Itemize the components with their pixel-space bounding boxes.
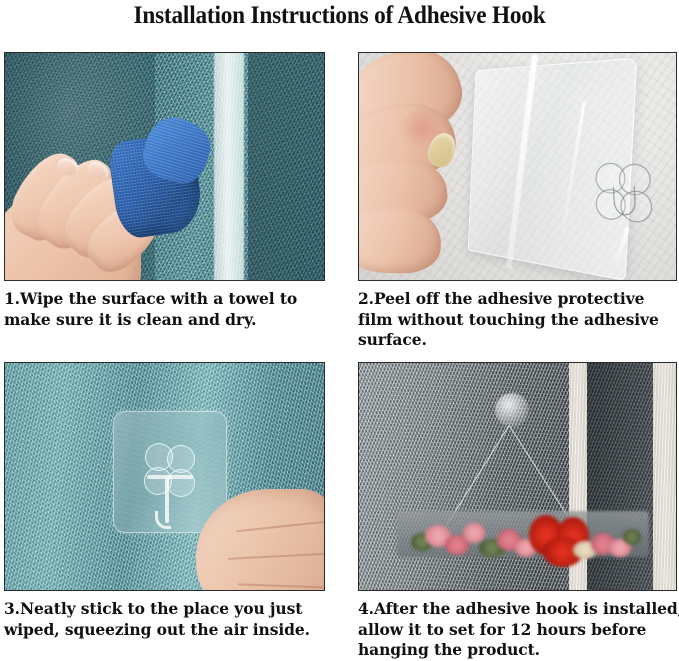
peel-film-photo xyxy=(358,52,677,281)
hand-holding-hook xyxy=(358,52,493,281)
stick-hook-photo xyxy=(4,362,325,591)
glass-light-band-right xyxy=(653,362,677,591)
garland-bloom xyxy=(463,523,485,543)
step-caption-3: 3.Neatly stick to the place you just wip… xyxy=(4,599,334,640)
glass-dark-strip-right xyxy=(248,52,325,281)
flower-garland xyxy=(405,515,641,571)
sheet-highlight xyxy=(561,101,586,235)
hand-pressing-hook xyxy=(186,479,325,591)
fist xyxy=(196,489,325,591)
page-title: Installation Instructions of Adhesive Ho… xyxy=(24,1,655,31)
step-item-3: 3.Neatly stick to the place you just wip… xyxy=(4,362,325,640)
hook-emboss xyxy=(593,160,661,236)
step-caption-1: 1.Wipe the surface with a towel to make … xyxy=(4,289,334,330)
clear-hook-sheet xyxy=(468,58,638,281)
hook-curl xyxy=(613,186,637,215)
step-item-4: 4.After the adhesive hook is installed, … xyxy=(358,362,679,661)
steps-grid: 1.Wipe the surface with a towel to make … xyxy=(4,52,675,658)
garland-leaf xyxy=(623,529,641,545)
step-caption-2: 2.Peel off the adhesive protective film … xyxy=(358,289,679,351)
step-item-2: 2.Peel off the adhesive protective film … xyxy=(358,52,679,351)
step-caption-4: 4.After the adhesive hook is installed, … xyxy=(358,599,679,661)
mounted-hook xyxy=(495,393,529,427)
instruction-sheet: Installation Instructions of Adhesive Ho… xyxy=(0,0,679,660)
hanging-product-photo xyxy=(358,362,677,591)
hook-tip xyxy=(155,511,171,529)
wiping-glass-photo xyxy=(4,52,325,281)
glass-white-band xyxy=(214,52,244,281)
step-item-1: 1.Wipe the surface with a towel to make … xyxy=(4,52,325,330)
